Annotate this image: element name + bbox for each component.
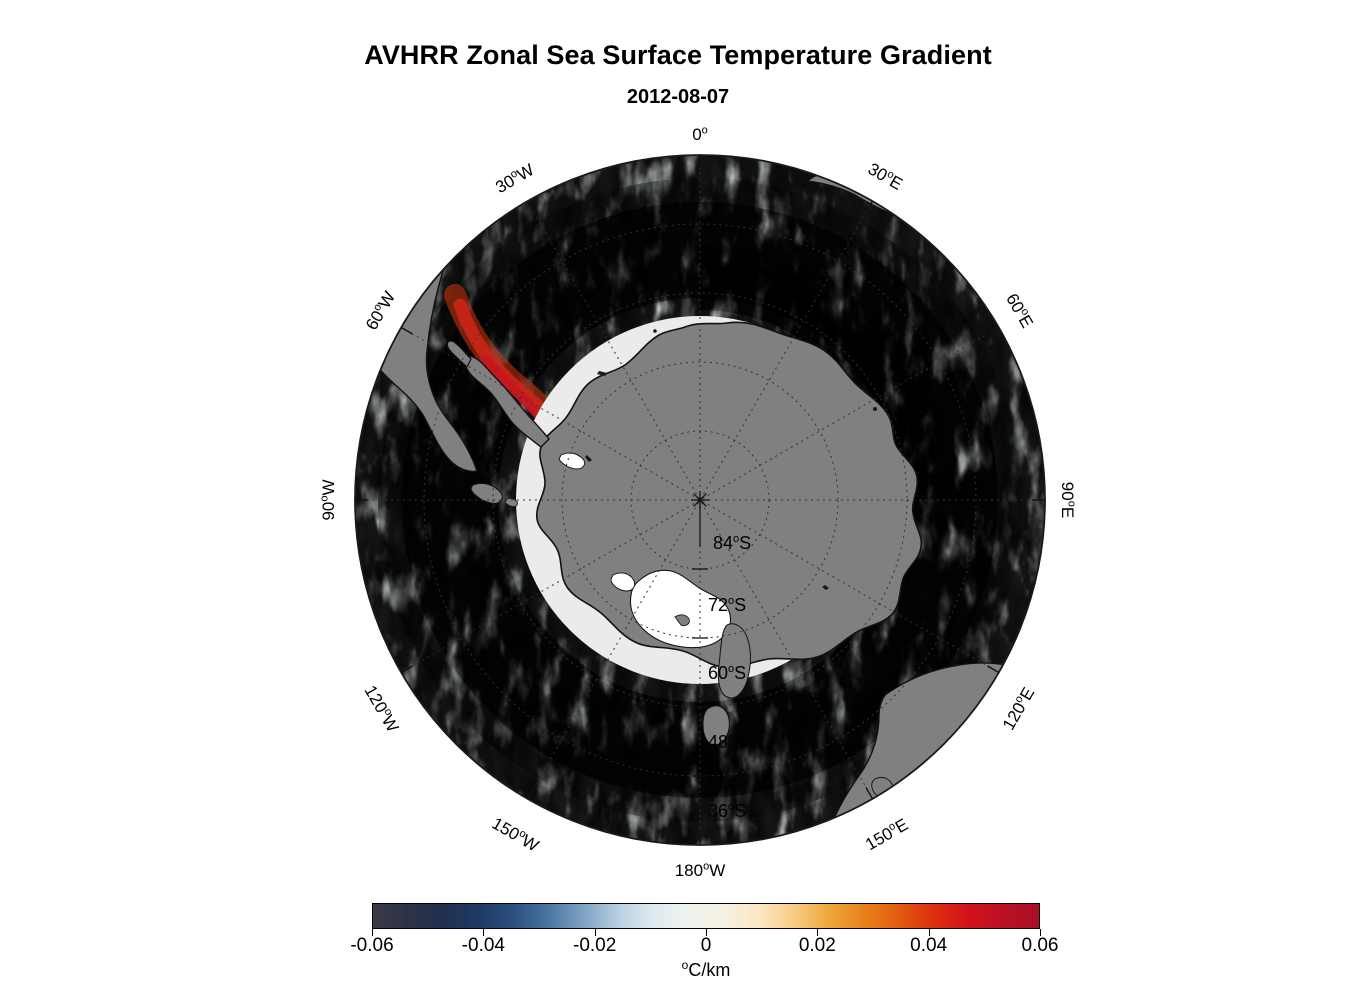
- lon-label-0: 0o: [692, 125, 708, 145]
- colorbar-unit-label: oC/km: [372, 960, 1040, 981]
- colorbar-label-2: -0.02: [573, 935, 616, 957]
- colorbar-label-5: 0.04: [910, 935, 947, 957]
- colorbar-label-4: 0.02: [799, 935, 836, 957]
- lat-label-60S: 60oS: [708, 663, 746, 684]
- map-canvas: [355, 155, 1045, 845]
- polar-map: 0o 30oE 60oE 90oE 120oE 150oE 180oW 150o…: [355, 155, 1045, 845]
- lat-label-72S: 72oS: [708, 595, 746, 616]
- figure-root: AVHRR Zonal Sea Surface Temperature Grad…: [0, 0, 1356, 1000]
- lat-label-48S: 48oS: [708, 732, 746, 753]
- page-subtitle: 2012-08-07: [0, 86, 1356, 109]
- lon-label-180W: 180oW: [675, 861, 726, 881]
- colorbar-gradient: [372, 903, 1040, 929]
- colorbar[interactable]: [372, 903, 1040, 929]
- lon-label-90W: 90oW: [319, 479, 339, 520]
- colorbar-tick-labels: -0.06 -0.04 -0.02 0 0.02 0.04 0.06: [372, 935, 1040, 959]
- lon-label-90E: 90oE: [1057, 482, 1077, 518]
- lat-label-84S: 84oS: [713, 533, 751, 554]
- page-title: AVHRR Zonal Sea Surface Temperature Grad…: [0, 40, 1356, 71]
- colorbar-label-1: -0.04: [462, 935, 505, 957]
- lat-label-36S: 36oS: [708, 801, 746, 822]
- colorbar-label-0: -0.06: [350, 935, 393, 957]
- colorbar-label-3: 0: [701, 935, 712, 957]
- colorbar-label-6: 0.06: [1022, 935, 1059, 957]
